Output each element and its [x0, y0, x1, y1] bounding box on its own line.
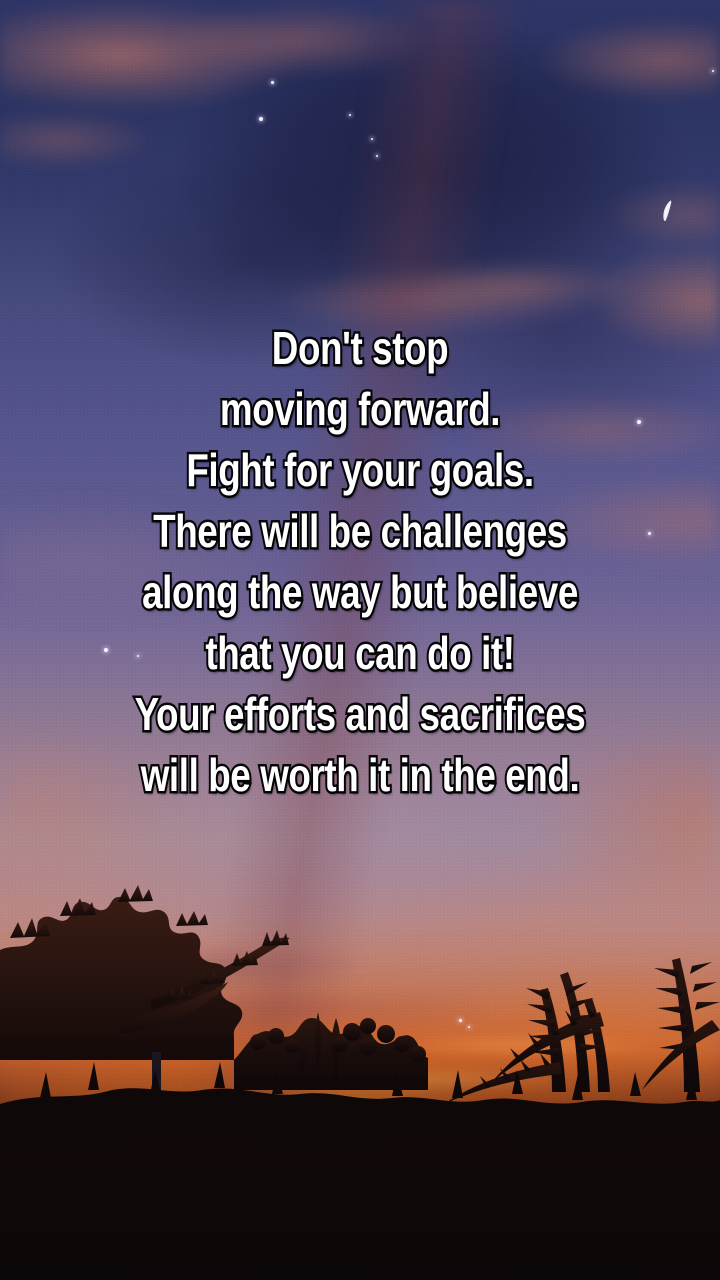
wallpaper-canvas: Don't stop moving forward. Fight for you…	[0, 0, 720, 1280]
film-grain-overlay	[0, 0, 720, 1280]
